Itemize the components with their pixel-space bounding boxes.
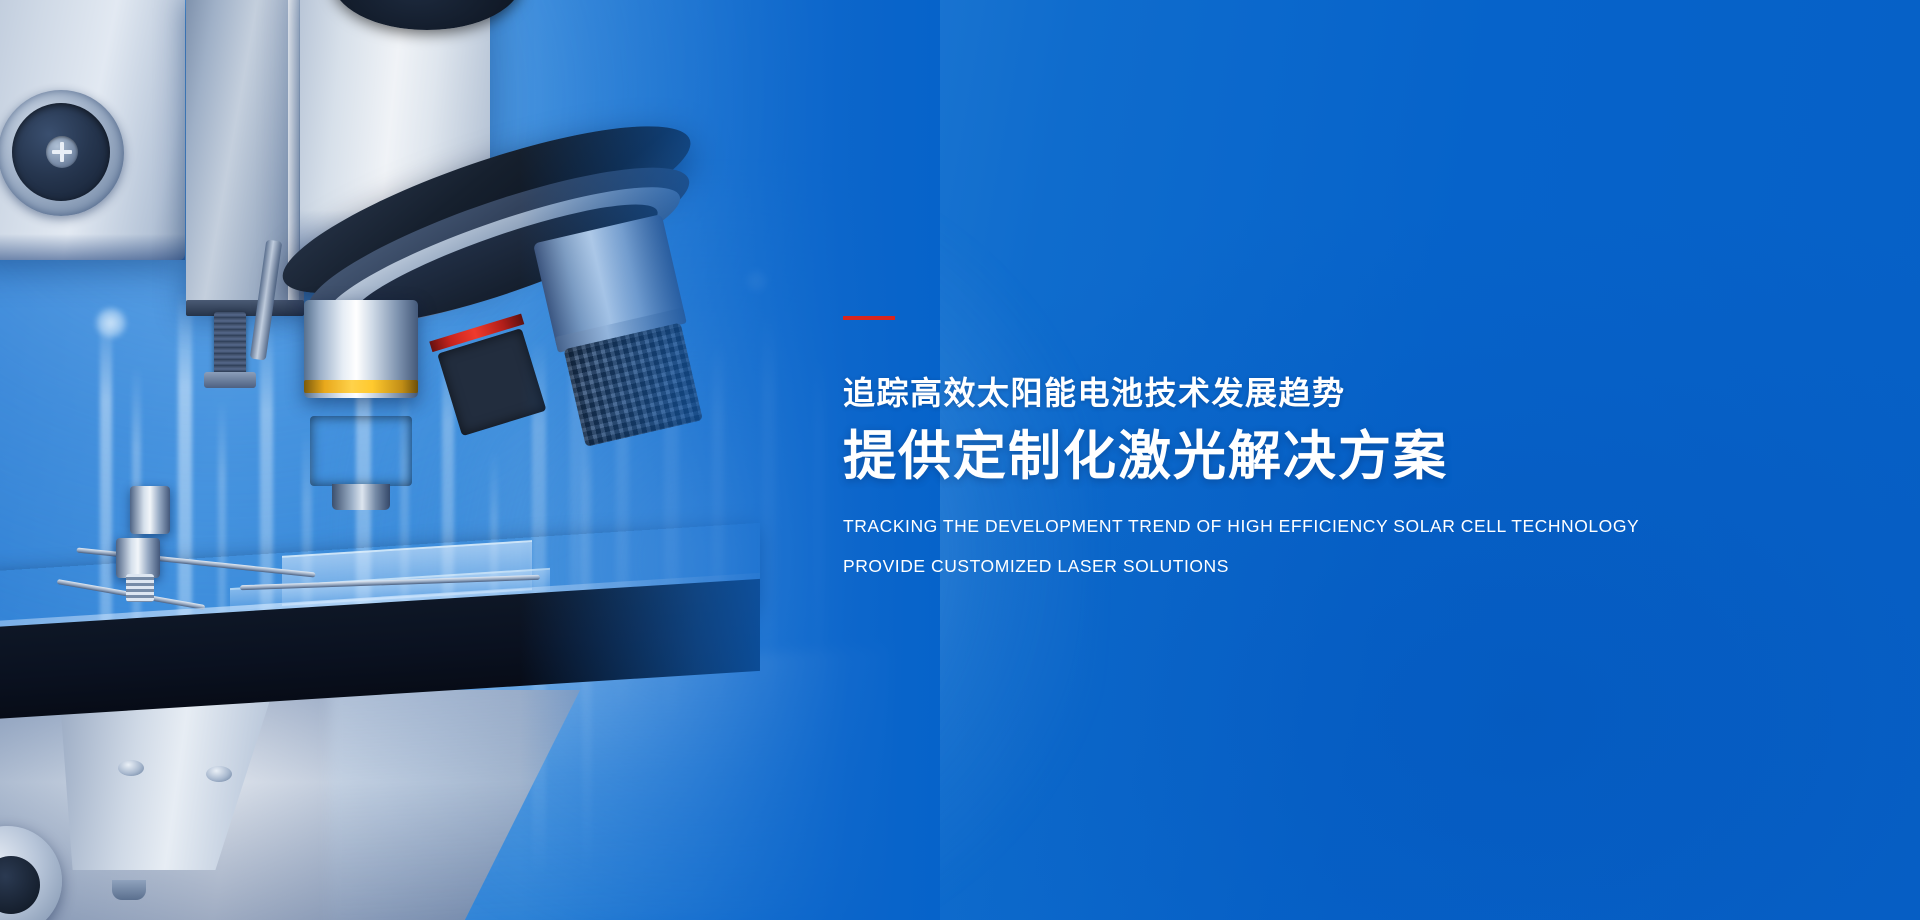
- stage-knob-upper: [130, 486, 170, 534]
- hero-banner: 追踪高效太阳能电池技术发展趋势 提供定制化激光解决方案 TRACKING THE…: [0, 0, 1920, 920]
- focus-knob-face: [12, 103, 110, 201]
- base-foot: [112, 880, 146, 900]
- objective-knurled-grip: [310, 416, 412, 486]
- adjustment-screw: [214, 312, 246, 378]
- hero-text-block: 追踪高效太阳能电池技术发展趋势 提供定制化激光解决方案 TRACKING THE…: [843, 316, 1823, 576]
- adjustment-screw-head: [204, 372, 256, 388]
- objective-yellow-band: [304, 380, 418, 393]
- base-screw: [118, 760, 144, 776]
- objective-lens-yellow: [300, 300, 422, 520]
- objective-tip: [332, 484, 390, 510]
- focus-knob: [0, 90, 124, 216]
- microscope-arm-block: [0, 0, 185, 260]
- hero-eyebrow: 追踪高效太阳能电池技术发展趋势: [843, 376, 1823, 411]
- hero-headline: 提供定制化激光解决方案: [843, 427, 1823, 486]
- accent-rule: [843, 316, 895, 320]
- phillips-screw-icon: [46, 136, 78, 168]
- hero-subtitle-line-2: PROVIDE CUSTOMIZED LASER SOLUTIONS: [843, 557, 1823, 576]
- stage-knob-lower: [116, 538, 160, 578]
- objective-collar: [308, 395, 414, 417]
- hero-subtitle-line-1: TRACKING THE DEVELOPMENT TREND OF HIGH E…: [843, 517, 1823, 536]
- base-screw: [206, 766, 232, 782]
- stage-knob-thread: [126, 574, 154, 602]
